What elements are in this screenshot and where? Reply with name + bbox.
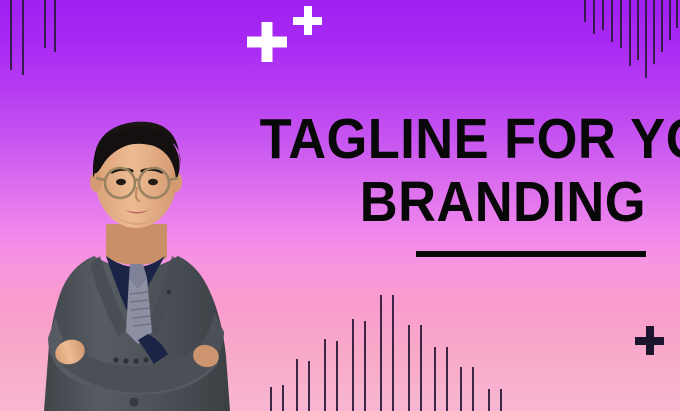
decorative-line [661,0,663,52]
decorative-line [324,339,326,411]
decorative-line [472,367,474,411]
decorative-line [364,321,366,411]
decorative-line [380,295,382,411]
decorative-line [22,0,24,75]
decorative-line [637,0,639,60]
decorative-line [10,0,12,70]
decorative-line [434,347,436,411]
decorative-line [669,0,671,40]
headline-block: TAGLINE FOR YOUR BRANDING [226,112,646,257]
decorative-line [44,0,46,48]
headline-line-1: TAGLINE FOR YOUR [260,112,646,168]
decorative-line [282,385,284,411]
plus-icon-accent [635,326,664,355]
decorative-line [308,361,310,411]
decorative-line [392,295,394,411]
banner: TAGLINE FOR YOUR BRANDING [0,0,680,411]
decorative-line [446,347,448,411]
decorative-line [352,319,354,411]
plus-icon-large [247,22,287,62]
headline-line-2: BRANDING [260,175,646,231]
plus-icon-small [293,6,322,35]
decorative-line [54,0,56,52]
decorative-line [420,325,422,411]
decorative-line [336,341,338,411]
decorative-line [676,0,678,28]
decorative-line [296,359,298,411]
decorative-line [653,0,655,64]
decorative-line [488,389,490,411]
decorative-line [500,389,502,411]
decorative-line [629,0,631,66]
decorative-line [460,367,462,411]
decorative-line [611,0,613,42]
decorative-line [593,0,595,34]
decorative-line [270,387,272,411]
decorative-line [584,0,586,22]
headline-underline [416,251,646,257]
decorative-line [620,0,622,48]
decorative-line [602,0,604,30]
portrait-photo [34,106,239,411]
decorative-lines-top-left [0,0,60,100]
decorative-lines-bottom [270,291,520,411]
decorative-lines-top-right [580,0,680,120]
decorative-line [645,0,647,78]
decorative-line [408,325,410,411]
